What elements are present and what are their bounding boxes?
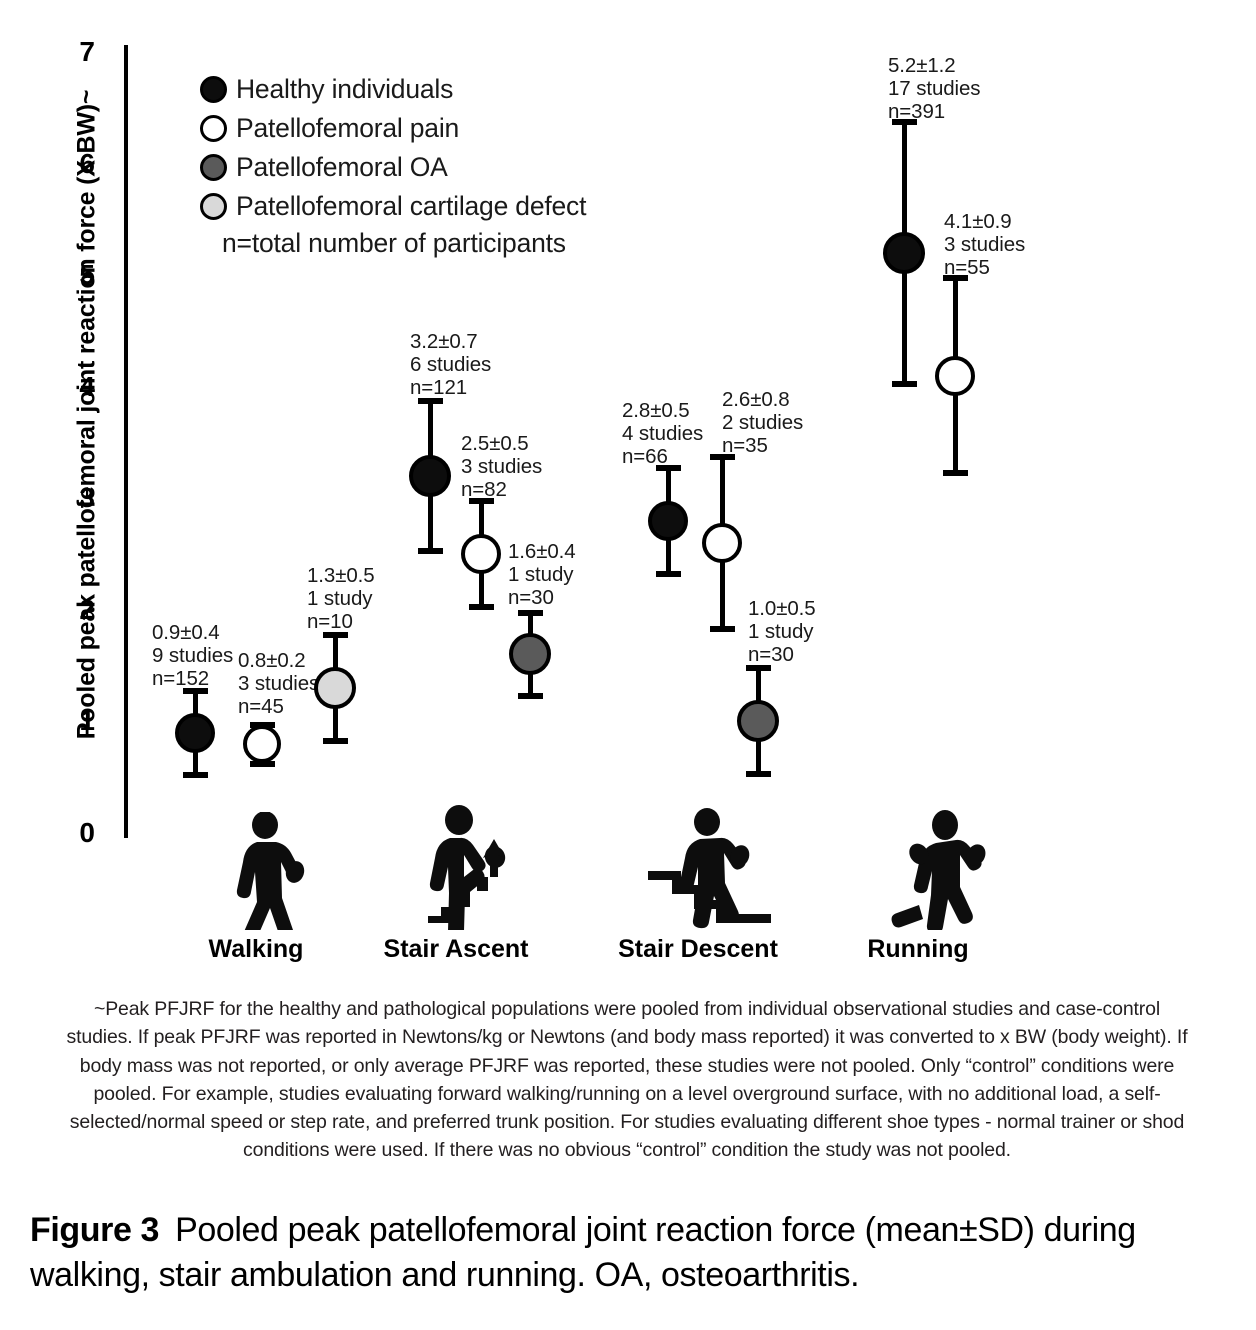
y-tick-label-6: 6 <box>55 148 95 180</box>
y-tick-label-0: 0 <box>55 817 95 849</box>
value-text: 0.9±0.4 <box>152 622 233 645</box>
studies-text: 2 studies <box>722 412 803 435</box>
value-text: 4.1±0.9 <box>944 211 1025 234</box>
marker-healthy <box>883 232 925 274</box>
value-text: 0.8±0.2 <box>238 650 319 673</box>
studies-text: 3 studies <box>461 456 542 479</box>
n-text: n=66 <box>622 446 703 469</box>
figure-footnote: ~Peak PFJRF for the healthy and patholog… <box>62 995 1192 1165</box>
chart-legend: Healthy individuals Patellofemoral pain … <box>200 70 740 259</box>
y-tick-label-5: 5 <box>55 259 95 291</box>
legend-item-pfp: Patellofemoral pain <box>200 109 740 147</box>
legend-label-healthy: Healthy individuals <box>236 74 453 105</box>
marker-pfoa <box>737 700 779 742</box>
data-label-walking-pfp: 0.8±0.2 3 studies n=45 <box>238 650 319 719</box>
data-point-ascent-pfoa[interactable] <box>516 610 544 699</box>
studies-text: 1 study <box>307 588 375 611</box>
studies-text: 4 studies <box>622 423 703 446</box>
n-text: n=82 <box>461 479 542 502</box>
marker-healthy <box>409 455 451 497</box>
data-point-ascent-healthy[interactable] <box>416 398 444 554</box>
value-text: 3.2±0.7 <box>410 331 491 354</box>
legend-label-defect: Patellofemoral cartilage defect <box>236 191 586 222</box>
legend-swatch-healthy-icon <box>200 76 227 103</box>
error-bar-cap-lower <box>183 772 208 778</box>
legend-note: n=total number of participants <box>200 228 740 259</box>
value-text: 1.0±0.5 <box>748 598 816 621</box>
error-bar-cap-lower <box>418 548 443 554</box>
marker-defect <box>314 667 356 709</box>
marker-pfp <box>243 725 281 763</box>
n-text: n=391 <box>888 101 980 124</box>
error-bar-cap-lower <box>746 771 771 777</box>
figure-caption-text: Pooled peak patellofemoral joint reactio… <box>30 1211 1136 1294</box>
figure-number: Figure 3 <box>30 1211 159 1249</box>
data-label-ascent-pfoa: 1.6±0.4 1 study n=30 <box>508 541 576 610</box>
value-text: 2.5±0.5 <box>461 433 542 456</box>
data-point-walking-pfp[interactable] <box>248 722 276 767</box>
value-text: 1.6±0.4 <box>508 541 576 564</box>
legend-item-defect: Patellofemoral cartilage defect <box>200 187 740 225</box>
data-label-descent-pfp: 2.6±0.8 2 studies n=35 <box>722 389 803 458</box>
value-text: 5.2±1.2 <box>888 55 980 78</box>
marker-pfoa <box>509 633 551 675</box>
y-axis-line <box>124 45 128 838</box>
data-label-ascent-pfp: 2.5±0.5 3 studies n=82 <box>461 433 542 502</box>
legend-item-healthy: Healthy individuals <box>200 70 740 108</box>
category-label-stair-ascent: Stair Ascent <box>384 935 529 964</box>
legend-label-pfoa: Patellofemoral OA <box>236 152 448 183</box>
studies-text: 9 studies <box>152 645 233 668</box>
data-label-ascent-healthy: 3.2±0.7 6 studies n=121 <box>410 331 491 400</box>
error-bar-cap-upper <box>518 610 543 616</box>
y-tick-label-2: 2 <box>55 594 95 626</box>
n-text: n=55 <box>944 257 1025 280</box>
data-point-descent-pfoa[interactable] <box>744 665 772 777</box>
studies-text: 1 study <box>508 564 576 587</box>
error-bar-cap-lower <box>892 381 917 387</box>
error-bar-cap-lower <box>943 470 968 476</box>
value-text: 2.8±0.5 <box>622 400 703 423</box>
y-tick-label-1: 1 <box>55 705 95 737</box>
studies-text: 3 studies <box>944 234 1025 257</box>
error-bar-cap-lower <box>710 626 735 632</box>
error-bar-cap-lower <box>323 738 348 744</box>
marker-healthy <box>648 501 688 541</box>
data-point-walking-healthy[interactable] <box>181 688 209 778</box>
error-bar-cap-lower <box>518 693 543 699</box>
category-label-stair-descent: Stair Descent <box>618 935 778 964</box>
marker-pfp <box>461 534 501 574</box>
legend-swatch-defect-icon <box>200 193 227 220</box>
marker-pfp <box>702 523 742 563</box>
error-bar-cap-lower <box>656 571 681 577</box>
n-text: n=152 <box>152 668 233 691</box>
data-point-walking-defect[interactable] <box>321 632 349 744</box>
data-label-running-pfp: 4.1±0.9 3 studies n=55 <box>944 211 1025 280</box>
y-tick-label-3: 3 <box>55 482 95 514</box>
data-point-ascent-pfp[interactable] <box>467 498 495 610</box>
data-label-descent-pfoa: 1.0±0.5 1 study n=30 <box>748 598 816 667</box>
figure-caption: Figure 3Pooled peak patellofemoral joint… <box>30 1208 1245 1298</box>
stair-ascent-person-icon <box>402 805 537 935</box>
value-text: 1.3±0.5 <box>307 565 375 588</box>
y-axis-title: Pooled peak patellofemoral joint reactio… <box>73 20 102 810</box>
n-text: n=30 <box>508 587 576 610</box>
value-text: 2.6±0.8 <box>722 389 803 412</box>
studies-text: 1 study <box>748 621 816 644</box>
legend-item-pfoa: Patellofemoral OA <box>200 148 740 186</box>
n-text: n=121 <box>410 377 491 400</box>
legend-label-pfp: Patellofemoral pain <box>236 113 459 144</box>
data-label-descent-healthy: 2.8±0.5 4 studies n=66 <box>622 400 703 469</box>
chart-plot-area: Pooled peak patellofemoral joint reactio… <box>0 0 1256 985</box>
legend-swatch-pfoa-icon <box>200 154 227 181</box>
studies-text: 6 studies <box>410 354 491 377</box>
category-label-running: Running <box>867 935 968 964</box>
n-text: n=45 <box>238 696 319 719</box>
studies-text: 3 studies <box>238 673 319 696</box>
running-person-icon <box>872 810 990 935</box>
stair-descent-person-icon <box>640 808 785 935</box>
category-label-walking: Walking <box>209 935 304 964</box>
marker-pfp <box>935 356 975 396</box>
data-point-running-healthy[interactable] <box>890 119 918 387</box>
n-text: n=10 <box>307 611 375 634</box>
y-tick-label-4: 4 <box>55 371 95 403</box>
figure-3-container: Pooled peak patellofemoral joint reactio… <box>0 0 1256 1330</box>
n-text: n=30 <box>748 644 816 667</box>
error-bar-cap-lower <box>469 604 494 610</box>
data-label-walking-defect: 1.3±0.5 1 study n=10 <box>307 565 375 634</box>
data-point-running-pfp[interactable] <box>941 275 969 476</box>
y-tick-label-7: 7 <box>55 36 95 68</box>
marker-healthy <box>175 713 215 753</box>
data-point-descent-pfp[interactable] <box>708 454 736 632</box>
legend-swatch-pfp-icon <box>200 115 227 142</box>
studies-text: 17 studies <box>888 78 980 101</box>
data-label-walking-healthy: 0.9±0.4 9 studies n=152 <box>152 622 233 691</box>
n-text: n=35 <box>722 435 803 458</box>
data-point-descent-healthy[interactable] <box>654 465 682 577</box>
data-label-running-healthy: 5.2±1.2 17 studies n=391 <box>888 55 980 124</box>
walking-person-icon <box>210 812 320 935</box>
